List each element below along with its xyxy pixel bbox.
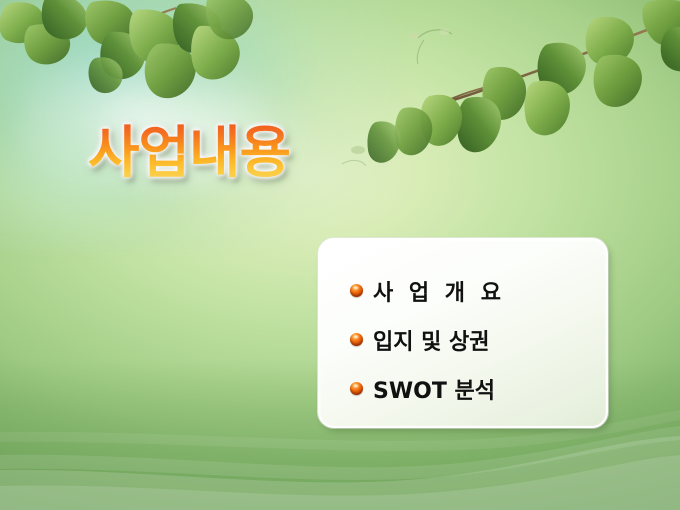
list-item[interactable]: SWOT 분석 <box>350 364 592 413</box>
list-item-label: 사 업 개 요 <box>373 275 505 307</box>
sphere-bullet-icon <box>350 284 363 297</box>
sphere-bullet-icon <box>350 333 363 346</box>
presentation-slide: 사업내용 사업내용 사 업 개 요 입지 및 상권 SWOT 분석 <box>0 0 680 510</box>
list-item[interactable]: 사 업 개 요 <box>350 266 592 315</box>
agenda-panel: 사 업 개 요 입지 및 상권 SWOT 분석 <box>318 238 608 428</box>
list-item-label: 입지 및 상권 <box>373 324 490 356</box>
list-item-label: SWOT 분석 <box>373 373 495 405</box>
list-item[interactable]: 입지 및 상권 <box>350 315 592 364</box>
leaf-branch-icon-left <box>0 0 253 98</box>
agenda-list: 사 업 개 요 입지 및 상권 SWOT 분석 <box>350 266 592 413</box>
leaf-branch-icon-right <box>342 0 680 166</box>
page-title: 사업내용 <box>88 122 290 185</box>
sphere-bullet-icon <box>350 382 363 395</box>
